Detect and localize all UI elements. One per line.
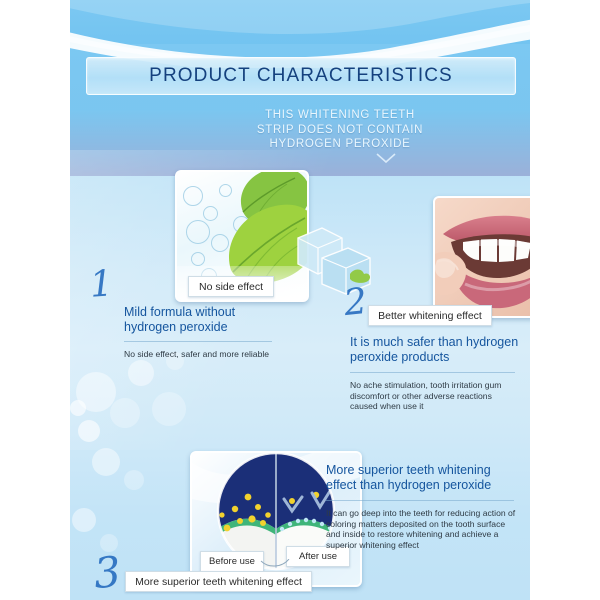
- section-3-image-caption: More superior teeth whitening effect: [125, 571, 312, 592]
- subtitle: THIS WHITENING TEETH STRIP DOES NOT CONT…: [240, 108, 440, 152]
- section-1-image-caption: No side effect: [188, 276, 274, 297]
- section-2-heading: It is much safer than hydrogen peroxide …: [350, 335, 520, 365]
- section-1-heading: Mild formula without hydrogen peroxide: [124, 305, 274, 335]
- subtitle-line-3: HYDROGEN PEROXIDE: [240, 137, 440, 152]
- smile-photo: [435, 198, 530, 316]
- chevron-down-icon: [375, 152, 397, 164]
- subtitle-line-1: THIS WHITENING TEETH: [240, 108, 440, 123]
- bokeh-circle: [128, 360, 154, 386]
- product-characteristics-infographic: PRODUCT CHARACTERISTICS THIS WHITENING T…: [0, 0, 600, 600]
- section-1-number: 1: [89, 266, 114, 304]
- before-use-caption: Before use: [200, 551, 264, 572]
- caption-connector-icon: [260, 559, 290, 569]
- section-3-body: It can go deep into the teeth for reduci…: [326, 508, 518, 550]
- bokeh-circle: [78, 420, 100, 442]
- section-1-body: No side effect, safer and more reliable: [124, 349, 270, 360]
- blue-panel: PRODUCT CHARACTERISTICS THIS WHITENING T…: [70, 0, 530, 600]
- bokeh-circle: [72, 508, 96, 532]
- section-2-image: [433, 196, 530, 318]
- bokeh-circle: [70, 400, 86, 416]
- page-title-bar: PRODUCT CHARACTERISTICS: [86, 57, 516, 95]
- bokeh-circle: [152, 392, 186, 426]
- bokeh-circle: [92, 448, 120, 476]
- section-3-number: 3: [92, 551, 122, 595]
- section-2-divider: [350, 372, 515, 373]
- bokeh-circle: [110, 398, 140, 428]
- section-2-number: 2: [342, 284, 369, 322]
- page-title: PRODUCT CHARACTERISTICS: [149, 65, 453, 87]
- section-3-divider: [326, 500, 514, 501]
- section-3-heading: More superior teeth whitening effect tha…: [326, 463, 516, 493]
- bokeh-circle: [124, 470, 144, 490]
- section-2-image-caption: Better whitening effect: [368, 305, 492, 326]
- section-2-body: No ache stimulation, tooth irritation gu…: [350, 380, 518, 412]
- section-1-divider: [124, 341, 272, 342]
- subtitle-line-2: STRIP DOES NOT CONTAIN: [240, 123, 440, 138]
